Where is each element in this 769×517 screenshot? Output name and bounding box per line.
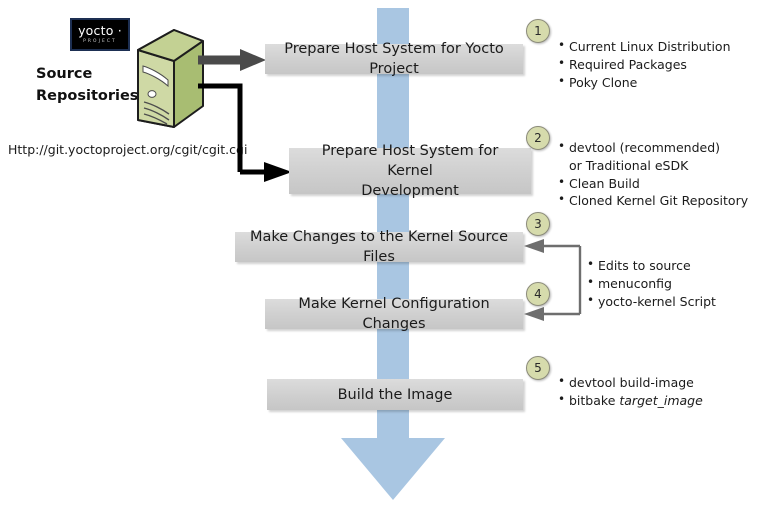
notes-step1: Current Linux Distribution Required Pack… (556, 38, 731, 91)
process-box-step4[interactable]: Make Kernel Configuration Changes (265, 299, 523, 329)
note-item: bitbake target_image (569, 392, 703, 410)
connector-notes-to-step3-step4 (518, 238, 586, 322)
logo-wordmark: yocto · (78, 25, 122, 38)
notes-step3-step4: Edits to source menuconfig yocto-kernel … (585, 257, 716, 310)
source-label-line-1: Source (36, 64, 146, 86)
connector-server-to-step1 (196, 44, 272, 76)
process-box-step3[interactable]: Make Changes to the Kernel Source Files (235, 232, 523, 262)
process-box-step2[interactable]: Prepare Host System for Kernel Developme… (289, 148, 531, 194)
note-item: devtool (recommended) or Traditional eSD… (569, 139, 721, 175)
logo-subtext: PROJECT (83, 40, 117, 44)
process-box-step2-line2: Development (361, 183, 459, 199)
note-item: Clean Build (569, 175, 748, 193)
step-badge-5: 5 (526, 356, 550, 380)
process-box-step2-line1: Prepare Host System for Kernel (322, 143, 499, 179)
yocto-project-logo: yocto · PROJECT (70, 18, 130, 51)
note-item: Required Packages (569, 56, 731, 74)
source-label-line-2: Repositories (36, 86, 146, 108)
process-box-step5[interactable]: Build the Image (267, 379, 523, 410)
flow-arrowhead-icon (341, 438, 445, 500)
process-box-step1[interactable]: Prepare Host System for Yocto Project (265, 44, 523, 74)
connector-server-to-step2 (196, 80, 300, 184)
notes-step5: devtool build-image bitbake target_image (556, 374, 703, 410)
note-item: Current Linux Distribution (569, 38, 731, 56)
note-item: Poky Clone (569, 74, 731, 92)
note-item: Cloned Kernel Git Repository (569, 192, 748, 210)
notes-step2: devtool (recommended) or Traditional eSD… (556, 139, 748, 210)
note-argument: target_image (619, 393, 702, 408)
step-badge-2: 2 (526, 126, 550, 150)
note-item: devtool build-image (569, 374, 703, 392)
step-badge-4: 4 (526, 282, 550, 306)
note-command: bitbake (569, 393, 619, 408)
note-item: yocto-kernel Script (598, 293, 716, 311)
workflow-diagram: yocto · PROJECT Source Repositories Http… (0, 0, 769, 517)
note-item: Edits to source (598, 257, 716, 275)
step-badge-3: 3 (526, 212, 550, 236)
step-badge-1: 1 (526, 19, 550, 43)
source-repositories-label: Source Repositories (36, 64, 146, 108)
note-item: menuconfig (598, 275, 716, 293)
